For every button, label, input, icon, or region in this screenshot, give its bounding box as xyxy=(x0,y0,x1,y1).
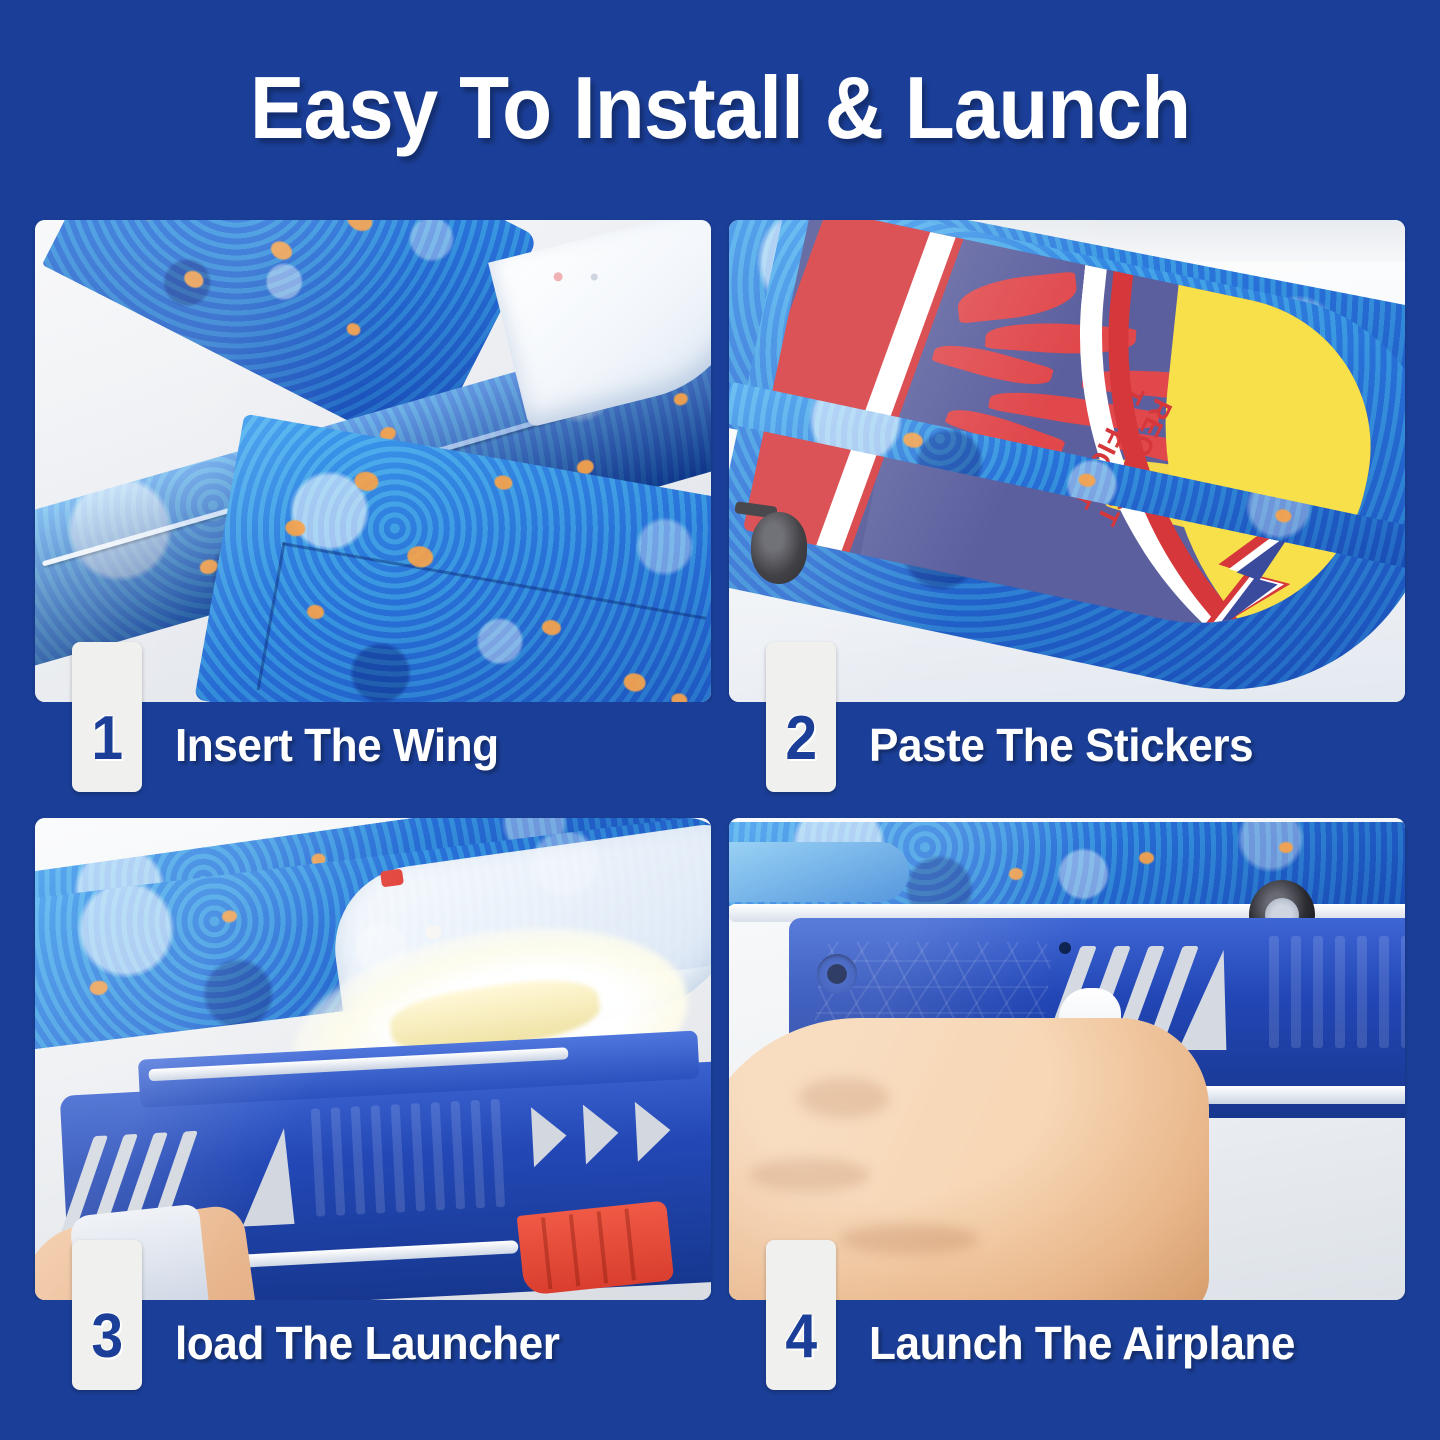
power-button-icon xyxy=(380,869,404,888)
step-photo-1 xyxy=(35,220,711,702)
screw-icon xyxy=(817,954,857,994)
chevron-arrow-icon xyxy=(583,1103,620,1165)
step-number-badge-1: 1 xyxy=(72,642,142,792)
chevron-arrow-icon xyxy=(531,1106,568,1168)
launcher-red-catch[interactable] xyxy=(517,1200,675,1295)
infographic-page: Easy To Install & Launch xyxy=(0,0,1440,1440)
step-photo-4 xyxy=(729,818,1405,1300)
step-number-badge-4: 4 xyxy=(766,1240,836,1390)
step-number-1: 1 xyxy=(91,708,123,792)
step-number-2: 2 xyxy=(785,708,817,792)
step-number-3: 3 xyxy=(91,1306,123,1390)
launcher-slot xyxy=(1189,1086,1405,1104)
step-card-1: 1 Insert The Wing xyxy=(35,220,711,700)
chevron-arrow-icon xyxy=(635,1100,672,1162)
step-number-badge-2: 2 xyxy=(766,642,836,792)
landing-gear-wheel xyxy=(751,512,807,584)
step-card-2: REQUESTTO FIGHT xyxy=(729,220,1405,700)
step-number-4: 4 xyxy=(785,1306,817,1390)
step-label-3: load The Launcher xyxy=(175,1316,559,1370)
step-photo-2: REQUESTTO FIGHT xyxy=(729,220,1405,702)
launcher-slot xyxy=(208,1240,518,1269)
page-title: Easy To Install & Launch xyxy=(50,62,1389,154)
steps-grid: 1 Insert The Wing xyxy=(35,220,1405,1400)
step-label-2: Paste The Stickers xyxy=(869,718,1253,772)
step-caption-3: 3 load The Launcher xyxy=(35,1300,711,1404)
step-caption-1: 1 Insert The Wing xyxy=(35,702,711,806)
step-photo-3 xyxy=(35,818,711,1300)
step-caption-4: 4 Launch The Airplane xyxy=(729,1300,1405,1404)
launcher-ridges xyxy=(1269,936,1405,1048)
step-card-3: 3 load The Launcher xyxy=(35,818,711,1298)
launcher-ridges xyxy=(311,1098,526,1217)
step-label-4: Launch The Airplane xyxy=(869,1316,1295,1370)
step-caption-2: 2 Paste The Stickers xyxy=(729,702,1405,806)
step-label-1: Insert The Wing xyxy=(175,718,499,772)
step-number-badge-3: 3 xyxy=(72,1240,142,1390)
plane-nose xyxy=(729,842,909,902)
step-card-4: 4 Launch The Airplane xyxy=(729,818,1405,1298)
